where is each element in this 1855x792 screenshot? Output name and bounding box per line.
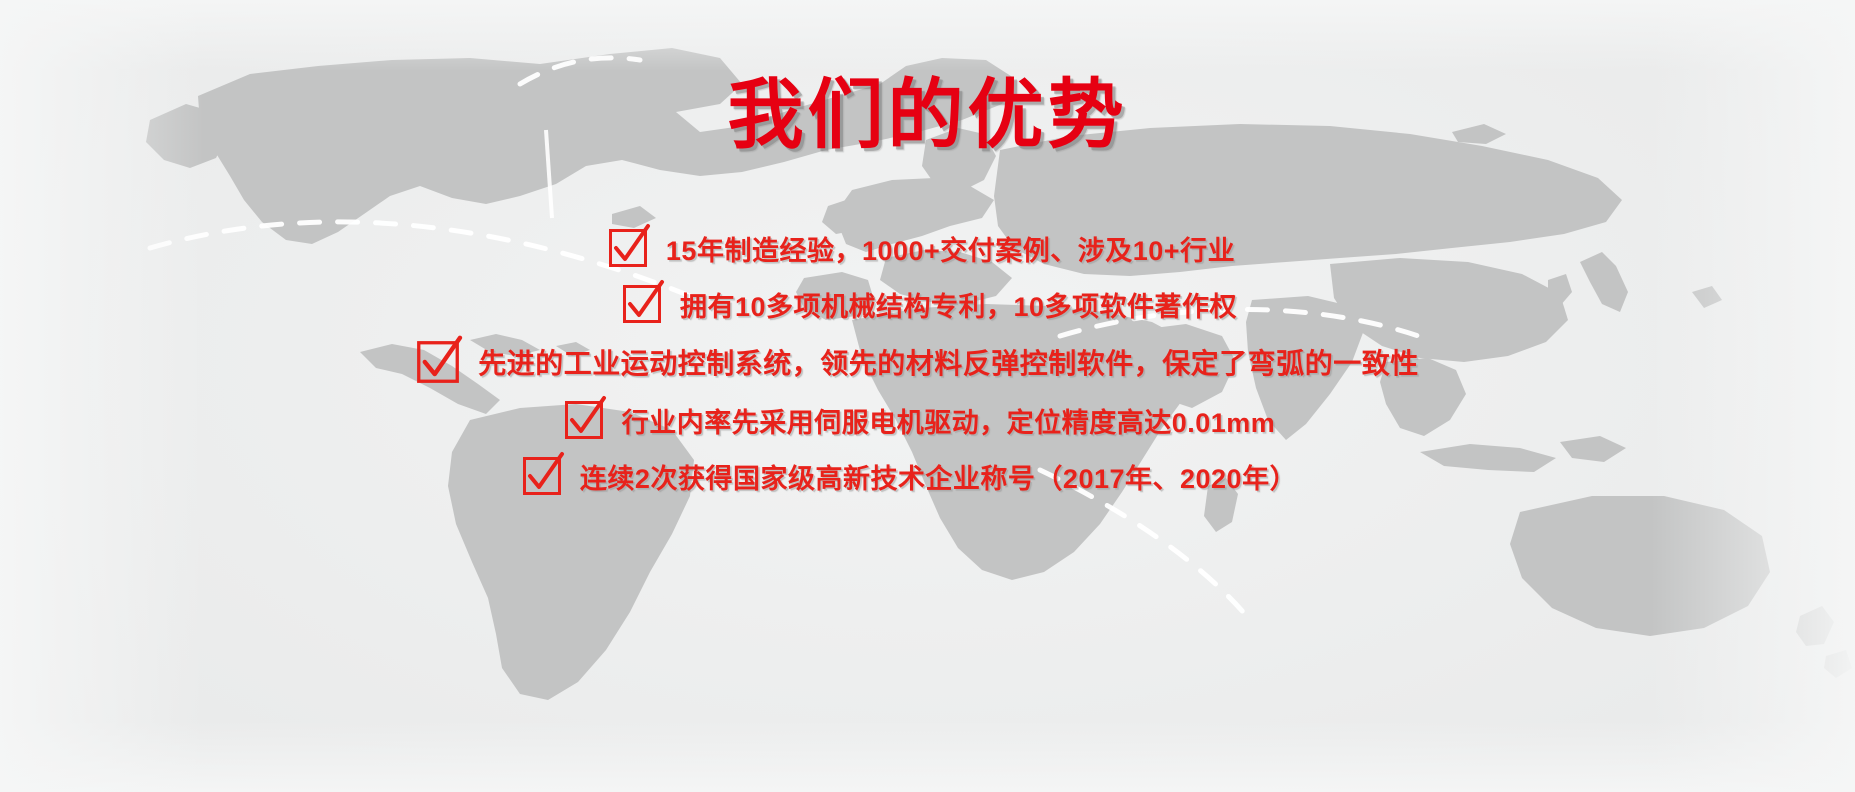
list-item-label: 先进的工业运动控制系统，领先的材料反弹控制软件，保定了弯弧的一致性	[478, 342, 1419, 382]
list-item: 行业内率先采用伺服电机驱动，定位精度高达0.01mm	[0, 400, 1847, 440]
advantages-list: 15年制造经验，1000+交付案例、涉及10+行业 拥有10多项机械结构专利，1…	[0, 228, 1855, 512]
list-item: 15年制造经验，1000+交付案例、涉及10+行业	[0, 228, 1849, 268]
advantages-banner: 我们的优势 15年制造经验，1000+交付案例、涉及10+行业	[0, 0, 1855, 792]
banner-content: 我们的优势 15年制造经验，1000+交付案例、涉及10+行业	[0, 0, 1855, 792]
list-item-label: 行业内率先采用伺服电机驱动，定位精度高达0.01mm	[622, 401, 1276, 440]
list-item-label: 15年制造经验，1000+交付案例、涉及10+行业	[666, 229, 1235, 268]
list-item: 拥有10多项机械结构专利，10多项软件著作权	[2, 284, 1855, 324]
checkbox-check-icon	[522, 456, 562, 496]
checkbox-check-icon	[564, 400, 604, 440]
checkbox-check-icon	[608, 228, 648, 268]
page-title: 我们的优势	[0, 78, 1855, 154]
list-item: 连续2次获得国家级高新技术企业称号（2017年、2020年）	[0, 456, 1837, 496]
list-item: 先进的工业运动控制系统，领先的材料反弹控制软件，保定了弯弧的一致性	[0, 340, 1845, 384]
checkbox-check-icon	[416, 340, 460, 384]
list-item-label: 连续2次获得国家级高新技术企业称号（2017年、2020年）	[580, 457, 1297, 496]
checkbox-check-icon	[622, 284, 662, 324]
list-item-label: 拥有10多项机械结构专利，10多项软件著作权	[680, 285, 1237, 324]
